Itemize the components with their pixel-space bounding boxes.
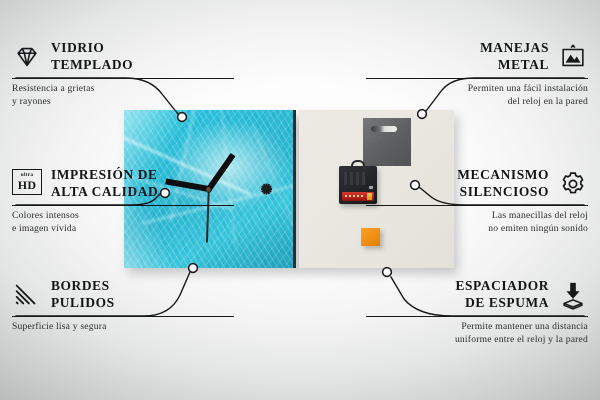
feature-divider: [12, 78, 234, 80]
feature-title: ESPACIADOR DE ESPUMA: [455, 278, 549, 312]
feature-header: ultra HD IMPRESIÓN DE ALTA CALIDAD: [12, 167, 234, 201]
feature-description: Permite mantener una distancia uniforme …: [366, 321, 588, 346]
feature-title: VIDRIO TEMPLADO: [51, 40, 133, 74]
feature-description: Las manecillas del reloj no emiten ningú…: [366, 210, 588, 235]
feature-bordes-pulidos: BORDES PULIDOS Superficie lisa y segura: [12, 278, 234, 334]
ultra-hd-icon: ultra HD: [12, 169, 42, 199]
feature-divider: [366, 316, 588, 318]
feature-espaciador-espuma: ESPACIADOR DE ESPUMA Permite mantener un…: [366, 278, 588, 347]
feature-title: BORDES PULIDOS: [51, 278, 115, 312]
foam-spacer-icon: [558, 280, 588, 310]
feature-header: VIDRIO TEMPLADO: [12, 40, 234, 74]
feature-title: IMPRESIÓN DE ALTA CALIDAD: [51, 167, 158, 201]
feature-divider: [12, 316, 234, 318]
feature-description: Superficie lisa y segura: [12, 321, 234, 334]
feature-divider: [366, 78, 588, 80]
feature-impresion-alta-calidad: ultra HD IMPRESIÓN DE ALTA CALIDAD Color…: [12, 167, 234, 236]
gear-icon: [558, 169, 588, 199]
feature-header: MANEJAS METAL: [366, 40, 588, 74]
feature-description: Permiten una fácil instalación del reloj…: [366, 83, 588, 108]
feature-divider: [12, 205, 234, 207]
feature-description: Resistencia a grietas y rayones: [12, 83, 234, 108]
feature-title: MECANISMO SILENCIOSO: [457, 167, 549, 201]
feature-mecanismo-silencioso: MECANISMO SILENCIOSO Las manecillas del …: [366, 167, 588, 236]
mechanism-detail: [344, 172, 366, 185]
diamond-icon: [12, 42, 42, 72]
mechanism-hanging-loop: [351, 160, 365, 169]
metal-hanger-plate: [363, 118, 411, 166]
feature-divider: [366, 205, 588, 207]
ultra-hd-large-text: HD: [18, 179, 37, 191]
feature-header: ESPACIADOR DE ESPUMA: [366, 278, 588, 312]
hanger-keyhole-slot: [371, 126, 397, 132]
feature-header: MECANISMO SILENCIOSO: [366, 167, 588, 201]
feature-manejas-metal: MANEJAS METAL Permiten una fácil instala…: [366, 40, 588, 109]
feature-header: BORDES PULIDOS: [12, 278, 234, 312]
polished-edges-icon: [12, 280, 42, 310]
infographic-canvas: VIDRIO TEMPLADO Resistencia a grietas y …: [0, 0, 600, 400]
framed-picture-icon: [558, 42, 588, 72]
feature-title: MANEJAS METAL: [480, 40, 549, 74]
feature-vidrio-templado: VIDRIO TEMPLADO Resistencia a grietas y …: [12, 40, 234, 109]
feature-description: Colores intensos e imagen vívida: [12, 210, 234, 235]
